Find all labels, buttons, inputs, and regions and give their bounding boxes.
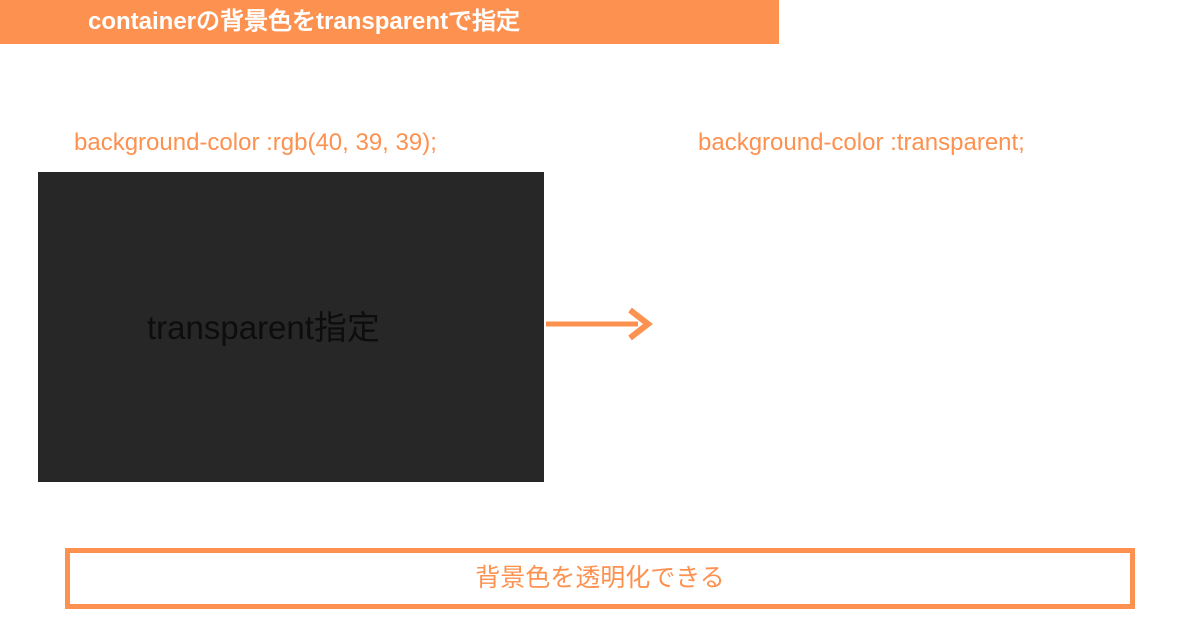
conclusion-text: 背景色を透明化できる	[475, 566, 725, 591]
header-banner: containerの背景色をtransparentで指定	[0, 0, 779, 44]
right-code-label: background-color :transparent;	[698, 131, 1025, 155]
page-title: containerの背景色をtransparentで指定	[88, 10, 520, 34]
left-code-label: background-color :rgb(40, 39, 39);	[74, 131, 437, 155]
transparent-container-box	[698, 172, 1138, 482]
dark-container-label: transparent指定	[147, 311, 380, 344]
arrow-right-icon	[544, 303, 654, 345]
slide-canvas: containerの背景色をtransparentで指定 background-…	[0, 0, 1200, 630]
dark-container-box: transparent指定	[38, 172, 544, 482]
conclusion-box: 背景色を透明化できる	[65, 548, 1135, 609]
